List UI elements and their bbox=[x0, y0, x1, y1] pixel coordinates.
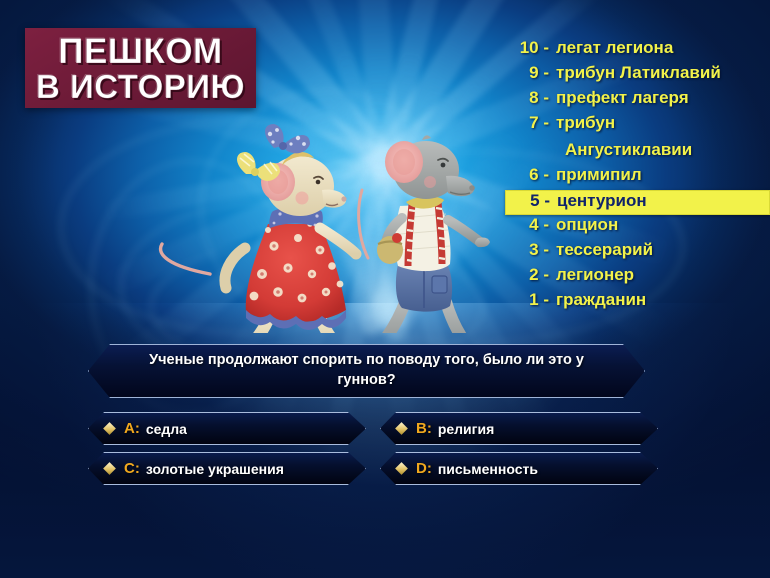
ladder-row[interactable]: 9 -трибун Латиклавий bbox=[505, 63, 770, 88]
ladder-row[interactable]: 6 -примипил bbox=[505, 165, 770, 190]
diamond-icon bbox=[103, 462, 116, 475]
answer-option-c[interactable]: C:золотые украшения bbox=[88, 452, 366, 485]
ladder-row[interactable]: 1 -гражданин bbox=[505, 290, 770, 315]
ladder-row[interactable]: 7 -трибун bbox=[505, 113, 770, 140]
answer-option-letter: B: bbox=[416, 420, 432, 437]
ladder-row[interactable]: 10 -легат легиона bbox=[505, 38, 770, 63]
answer-row: A:седлаB:религия bbox=[88, 412, 658, 445]
diamond-icon bbox=[395, 462, 408, 475]
ladder-row-number: 5 - bbox=[515, 191, 557, 211]
question-box: Ученые продолжают спорить по поводу того… bbox=[88, 344, 645, 398]
ladder-row-number: 3 - bbox=[514, 240, 556, 260]
answer-option-text: золотые украшения bbox=[146, 461, 284, 477]
score-ladder: 10 -легат легиона9 -трибун Латиклавий8 -… bbox=[505, 38, 770, 315]
answer-option-text: седла bbox=[146, 421, 187, 437]
question-text: Ученые продолжают спорить по поводу того… bbox=[122, 351, 610, 390]
ladder-row-label: центурион bbox=[557, 191, 647, 211]
ladder-row-number: 2 - bbox=[514, 265, 556, 285]
answer-option-letter: A: bbox=[124, 420, 140, 437]
ladder-row-label-continued: Ангустиклавии bbox=[565, 140, 692, 160]
ladder-row-number: 7 - bbox=[514, 113, 556, 133]
diamond-icon bbox=[103, 422, 116, 435]
answer-option-letter: D: bbox=[416, 460, 432, 477]
answer-option-a[interactable]: A:седла bbox=[88, 412, 366, 445]
ladder-row-label: трибун Латиклавий bbox=[556, 63, 721, 83]
ladder-row-label: префект лагеря bbox=[556, 88, 689, 108]
ladder-row-number: 1 - bbox=[514, 290, 556, 310]
answer-option-d[interactable]: D:письменность bbox=[380, 452, 658, 485]
answer-option-b[interactable]: B:религия bbox=[380, 412, 658, 445]
ladder-row-label: трибун bbox=[556, 113, 615, 133]
answer-option-text: письменность bbox=[438, 461, 538, 477]
ladder-row-number: 4 - bbox=[514, 215, 556, 235]
answer-option-letter: C: bbox=[124, 460, 140, 477]
diamond-icon bbox=[395, 422, 408, 435]
ladder-row-label: тессерарий bbox=[556, 240, 653, 260]
ladder-row-continuation: Ангустиклавии bbox=[505, 140, 770, 165]
ladder-row[interactable]: 8 -префект лагеря bbox=[505, 88, 770, 113]
answer-row: C:золотые украшенияD:письменность bbox=[88, 452, 658, 485]
ladder-row-number: 10 - bbox=[514, 38, 556, 58]
ladder-row[interactable]: 2 -легионер bbox=[505, 265, 770, 290]
ladder-row-label: примипил bbox=[556, 165, 642, 185]
ladder-row-number: 9 - bbox=[514, 63, 556, 83]
ladder-row[interactable]: 3 -тессерарий bbox=[505, 240, 770, 265]
ladder-row[interactable]: 5 -центурион bbox=[505, 190, 770, 215]
two-mice-illustration bbox=[150, 78, 490, 333]
ladder-row-label: опцион bbox=[556, 215, 618, 235]
ladder-row-number: 8 - bbox=[514, 88, 556, 108]
ladder-row-label: легат легиона bbox=[556, 38, 673, 58]
ladder-row-label: легионер bbox=[556, 265, 634, 285]
quiz-slide: Пешком в историю bbox=[0, 0, 770, 578]
answer-option-text: религия bbox=[438, 421, 494, 437]
logo-line-1: Пешком bbox=[58, 34, 222, 69]
ladder-row-label: гражданин bbox=[556, 290, 646, 310]
ladder-row-number: 6 - bbox=[514, 165, 556, 185]
ladder-row[interactable]: 4 -опцион bbox=[505, 215, 770, 240]
answer-options: A:седлаB:религияC:золотые украшенияD:пис… bbox=[88, 412, 658, 492]
